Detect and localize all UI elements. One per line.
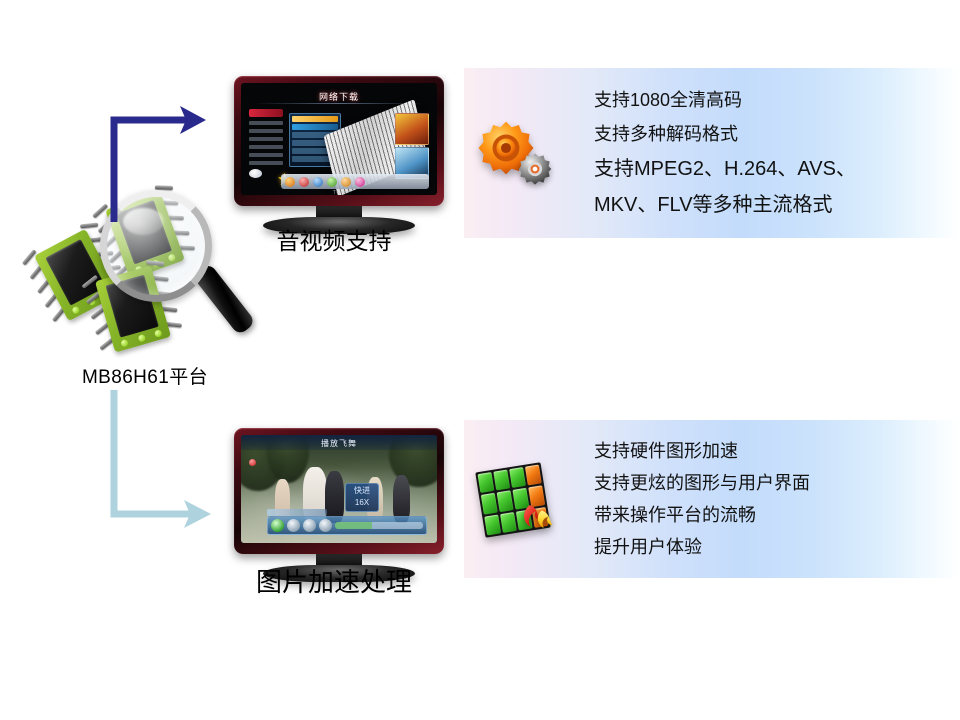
feature-panel-graphics: 支持硬件图形加速 支持更炫的图形与用户界面 带来操作平台的流畅 提升用户体验 <box>464 420 960 578</box>
feature-line: 支持MPEG2、H.264、AVS、 <box>594 159 950 179</box>
feature-line: 支持更炫的图形与用户界面 <box>594 474 950 492</box>
blocks-flame-icon <box>480 463 554 535</box>
flame-arrow-icon <box>522 499 556 533</box>
nav-highlight <box>249 109 283 117</box>
feature-panel-video: 支持1080全清高码 支持多种解码格式 支持MPEG2、H.264、AVS、 M… <box>464 68 960 238</box>
platform-label: MB86H61平台 <box>0 362 290 389</box>
screen-title-rule <box>255 103 423 104</box>
feature-line: 支持多种解码格式 <box>594 125 950 143</box>
feature-line: 提升用户体验 <box>594 538 950 556</box>
caption-image-acceleration: 图片加速处理 <box>204 562 464 599</box>
tv-graphics-preview: 播放飞舞 快进16X <box>234 428 444 582</box>
pause-button[interactable] <box>287 519 300 532</box>
gear-small-icon <box>518 152 552 186</box>
stop-button[interactable] <box>303 519 316 532</box>
feature-list-video: 支持1080全清高码 支持多种解码格式 支持MPEG2、H.264、AVS、 M… <box>556 91 960 215</box>
chip-icon <box>95 265 171 352</box>
feature-list-graphics: 支持硬件图形加速 支持更炫的图形与用户界面 带来操作平台的流畅 提升用户体验 <box>556 442 960 556</box>
tv-neck <box>316 206 362 217</box>
screen-thumbnail <box>395 113 429 145</box>
chip-die <box>106 275 159 338</box>
panel-icon-slot <box>464 420 556 578</box>
feature-line: 支持1080全清高码 <box>594 91 950 109</box>
tv-video-preview: 网络下载 ★ <box>234 76 444 234</box>
arrow-to-video-branch <box>108 96 208 226</box>
tv-bezel: 网络下载 ★ <box>234 76 444 206</box>
play-button[interactable] <box>271 519 284 532</box>
panel-icon-slot <box>464 68 556 238</box>
movie-speed-badge: 快进16X <box>345 483 379 512</box>
progress-bar[interactable] <box>335 522 423 529</box>
screen-title: 网络下载 <box>319 90 359 103</box>
feature-line: 带来操作平台的流畅 <box>594 506 950 524</box>
arrow-to-graphics-branch <box>108 386 213 536</box>
movie-playback-controls[interactable] <box>267 516 427 535</box>
tv-screen: 网络下载 ★ <box>241 83 437 195</box>
tv-screen: 播放飞舞 快进16X <box>241 435 437 543</box>
movie-title: 播放飞舞 <box>321 438 357 449</box>
next-button[interactable] <box>319 519 332 532</box>
feature-line: 支持硬件图形加速 <box>594 442 950 460</box>
screen-left-nav <box>249 109 283 178</box>
screen-app-dock <box>281 174 429 189</box>
magnifier-handle <box>192 262 256 335</box>
caption-video-support: 音视频支持 <box>214 222 454 256</box>
gears-icon <box>478 118 552 188</box>
tv-brand-label: TCL <box>333 190 345 195</box>
movie-info-tabs <box>267 509 327 516</box>
tv-bezel: 播放飞舞 快进16X <box>234 428 444 554</box>
movie-record-dot <box>249 459 256 466</box>
feature-line: MKV、FLV等多种主流格式 <box>594 195 950 215</box>
nav-indicator <box>249 169 262 178</box>
